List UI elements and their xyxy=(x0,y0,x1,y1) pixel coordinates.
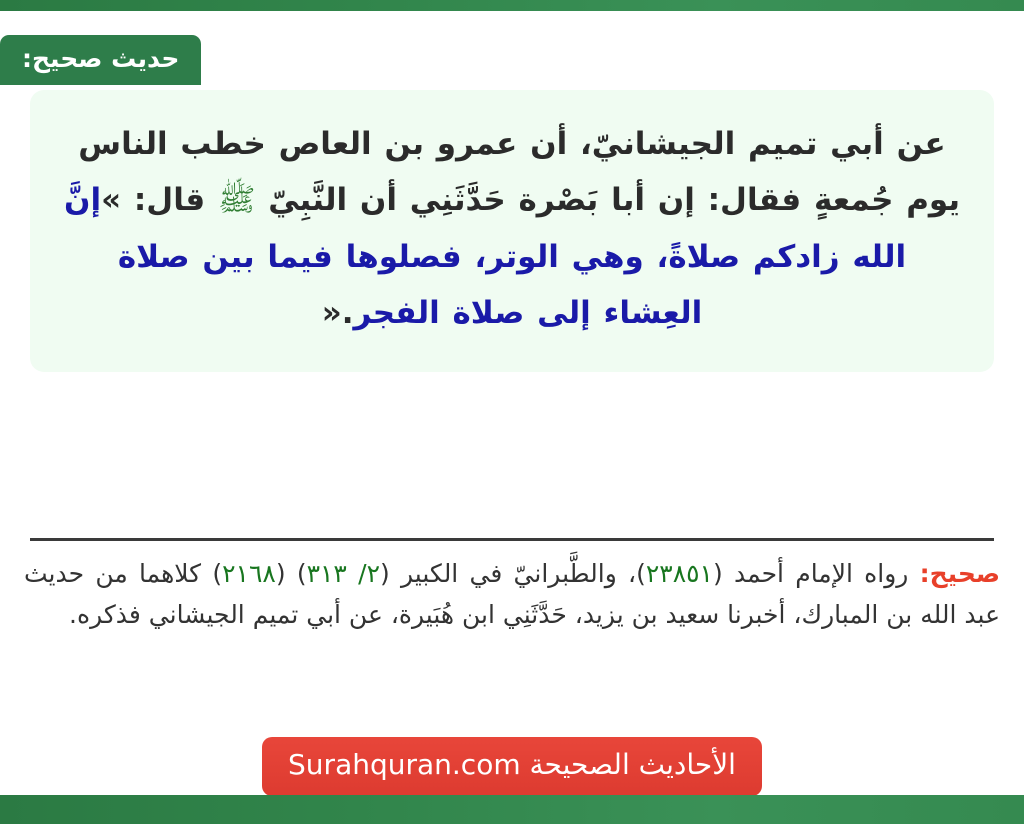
site-branding-banner[interactable]: الأحاديث الصحيحة Surahquran.com xyxy=(262,737,762,796)
citation-grade-label: صحيح: xyxy=(920,559,1000,588)
citation-number-tabarani-volume-page: ٢/ ٣١٣ xyxy=(307,559,380,588)
footer-wrap: الأحاديث الصحيحة Surahquran.com xyxy=(0,737,1024,796)
top-green-bar xyxy=(0,0,1024,11)
hadith-text-box: عن أبي تميم الجيشانيّ، أن عمرو بن العاص … xyxy=(30,90,994,372)
citation-segment-1: رواه الإمام أحمد ( xyxy=(713,559,920,588)
card-body: حديث صحيح: عن أبي تميم الجيشانيّ، أن عمر… xyxy=(0,11,1024,795)
citation-number-tabarani-hadith: ٢١٦٨ xyxy=(222,559,276,588)
hadith-quote-close: .« xyxy=(322,295,354,331)
footer-arabic-label: الأحاديث الصحيحة xyxy=(530,748,736,781)
badge-row: حديث صحيح: xyxy=(0,35,1024,85)
sallallahu-alayhi-wasallam-icon: ﷺ xyxy=(218,182,255,218)
hadith-text: عن أبي تميم الجيشانيّ، أن عمرو بن العاص … xyxy=(64,116,960,342)
citation-segment-3: ) ( xyxy=(276,559,307,588)
hadith-said-connector: قال: » xyxy=(101,182,218,218)
footer-site-name: Surahquran.com xyxy=(288,751,521,779)
citation-paragraph: صحيح: رواه الإمام أحمد (٢٣٨٥١)، والطَّبر… xyxy=(24,554,1000,635)
section-divider xyxy=(30,538,994,541)
citation-segment-2: )، والطَّبرانيّ في الكبير ( xyxy=(380,559,646,588)
bottom-green-bar xyxy=(0,795,1024,824)
citation-number-musnad-ahmad: ٢٣٨٥١ xyxy=(646,559,713,588)
citation-block: صحيح: رواه الإمام أحمد (٢٣٨٥١)، والطَّبر… xyxy=(24,554,1000,635)
hadith-grade-badge: حديث صحيح: xyxy=(0,35,201,85)
